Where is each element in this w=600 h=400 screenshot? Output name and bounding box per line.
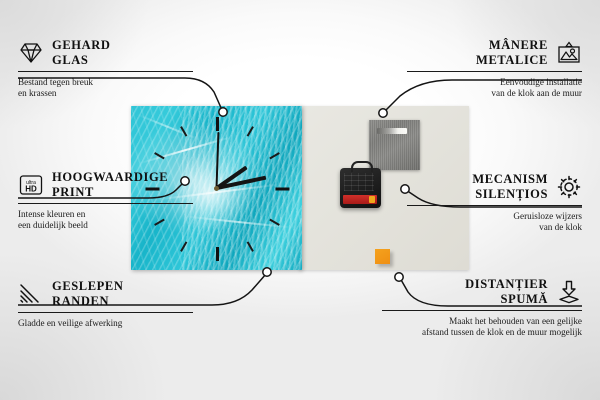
mechanism-hanging-loop bbox=[351, 161, 373, 172]
feature-header: MECANISM SILENȚIOS bbox=[407, 172, 582, 201]
feature-manere-metalice[interactable]: MÂNERE METALICE Eenvoudige installatie v… bbox=[407, 38, 582, 99]
feature-header: MÂNERE METALICE bbox=[407, 38, 582, 67]
hanger-slot bbox=[377, 128, 407, 134]
battery bbox=[343, 195, 377, 204]
feature-description: Bestand tegen breuk en krassen bbox=[18, 77, 193, 99]
feature-title: GESLEPEN RANDEN bbox=[52, 279, 124, 308]
feature-description: Geruisloze wijzers van de klok bbox=[407, 211, 582, 233]
clock-tick bbox=[269, 152, 280, 159]
feature-header: GESLEPEN RANDEN bbox=[18, 279, 193, 308]
foam-spacer bbox=[375, 249, 390, 264]
feature-header: DISTANȚIER SPUMĂ bbox=[382, 277, 582, 306]
feature-rule bbox=[18, 71, 193, 72]
feature-title: DISTANȚIER SPUMĂ bbox=[465, 277, 548, 306]
feature-mecanism-silentios[interactable]: MECANISM SILENȚIOS Geruisloze wijzers va… bbox=[407, 172, 582, 233]
beveled-edges-icon bbox=[18, 281, 44, 307]
clock-mechanism bbox=[340, 168, 381, 208]
ultra-hd-icon: ultra HD bbox=[18, 172, 44, 198]
feature-description: Maakt het behouden van een gelijke afsta… bbox=[382, 316, 582, 338]
clock-tick bbox=[180, 241, 187, 252]
clock-tick bbox=[246, 126, 253, 137]
down-arrow-layers-icon bbox=[556, 279, 582, 305]
clock-tick bbox=[246, 241, 253, 252]
feature-title: MÂNERE METALICE bbox=[476, 38, 548, 67]
feather-wisp-4 bbox=[137, 113, 201, 140]
feature-geslepen-randen[interactable]: GESLEPEN RANDEN Gladde en veilige afwerk… bbox=[18, 279, 193, 329]
feature-rule bbox=[407, 71, 582, 72]
diamond-icon bbox=[18, 40, 44, 66]
hanging-frame-icon bbox=[556, 40, 582, 66]
feature-rule bbox=[407, 205, 582, 206]
clock-tick bbox=[216, 117, 219, 131]
feature-hoogwaardige-print[interactable]: ultra HD HOOGWAARDIGE PRINT Intense kleu… bbox=[18, 170, 193, 231]
feature-gehard-glas[interactable]: GEHARD GLAS Bestand tegen breuk en krass… bbox=[18, 38, 193, 99]
hands-center-cap bbox=[214, 186, 219, 191]
metal-hanger-plate bbox=[369, 120, 420, 170]
feature-title: MECANISM SILENȚIOS bbox=[472, 172, 548, 201]
feature-rule bbox=[382, 310, 582, 311]
gear-icon bbox=[556, 174, 582, 200]
feature-header: GEHARD GLAS bbox=[18, 38, 193, 67]
feature-rule bbox=[18, 312, 193, 313]
feature-description: Eenvoudige installatie van de klok aan d… bbox=[407, 77, 582, 99]
svg-text:HD: HD bbox=[25, 184, 37, 193]
feature-description: Gladde en veilige afwerking bbox=[18, 318, 193, 329]
feature-header: ultra HD HOOGWAARDIGE PRINT bbox=[18, 170, 193, 199]
feature-distantier-spuma[interactable]: DISTANȚIER SPUMĂ Maakt het behouden van … bbox=[382, 277, 582, 338]
feature-title: HOOGWAARDIGE PRINT bbox=[52, 170, 168, 199]
feature-description: Intense kleuren en een duidelijk beeld bbox=[18, 209, 193, 231]
mechanism-texture bbox=[344, 173, 374, 191]
feature-rule bbox=[18, 203, 193, 204]
clock-tick bbox=[216, 247, 219, 261]
infographic-canvas: GEHARD GLAS Bestand tegen breuk en krass… bbox=[0, 0, 600, 400]
clock-tick bbox=[275, 188, 289, 191]
feature-title: GEHARD GLAS bbox=[52, 38, 110, 67]
